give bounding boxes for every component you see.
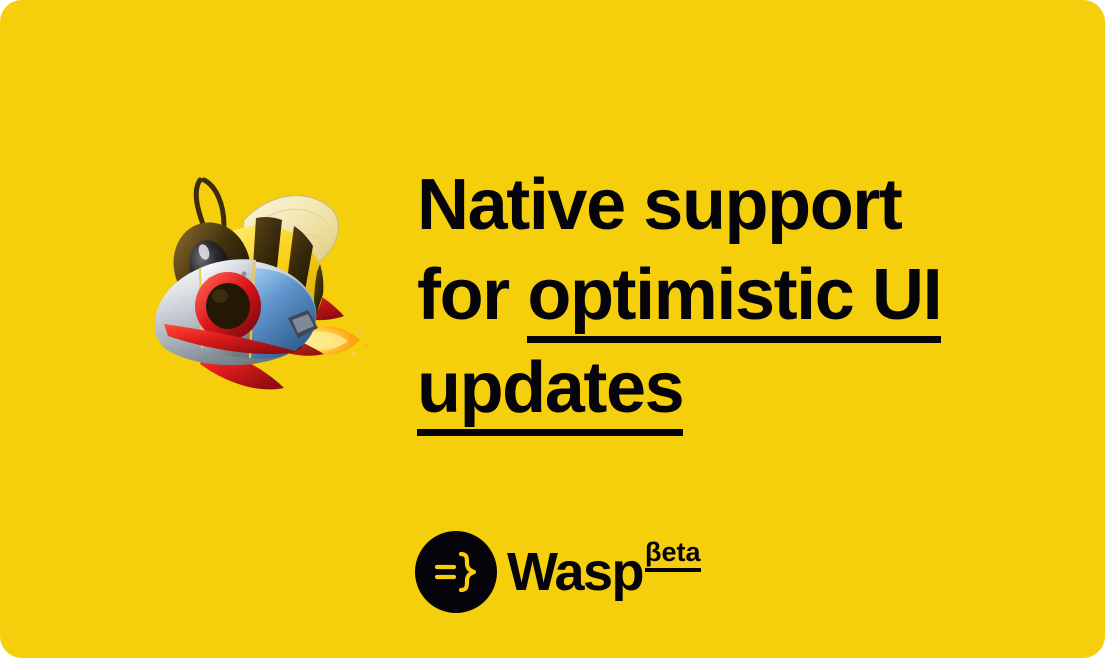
headline-line-2-prefix: for	[417, 255, 527, 335]
wasp-wordmark: Wasp	[507, 531, 643, 613]
headline: Native support for optimistic UI updates	[417, 160, 1017, 436]
wasp-equals-brace-icon	[433, 549, 479, 595]
headline-line-3-underlined: updates	[417, 350, 683, 436]
headline-line-1: Native support	[417, 165, 901, 245]
bee-rocket-illustration	[148, 168, 378, 403]
wasp-logo-mark	[415, 531, 497, 613]
headline-line-2-underlined: optimistic UI	[527, 257, 941, 343]
promo-card: Native support for optimistic UI updates…	[0, 0, 1105, 658]
beta-badge: βeta	[645, 539, 701, 572]
wasp-brand-lockup: Wasp βeta	[415, 531, 701, 613]
